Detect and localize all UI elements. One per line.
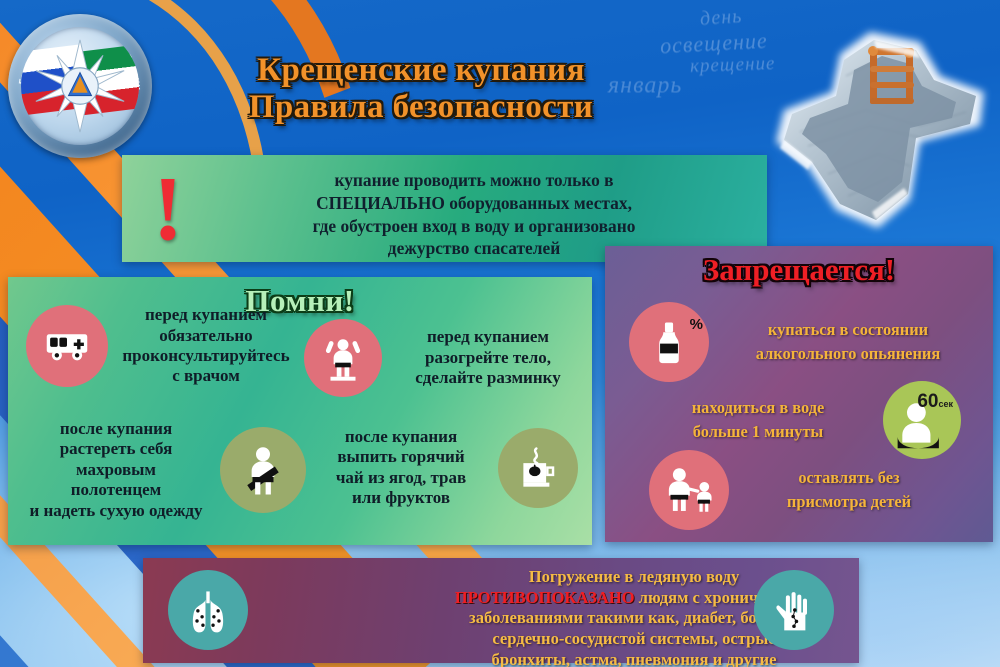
forbidden-panel: Запрещается! % купаться в состоянии алко… [605,246,993,542]
line: полотенцем [14,480,218,500]
alcohol-bottle-icon: % [629,302,709,382]
title-line-2: Правила безопасности [186,89,656,126]
line: чай из ягод, трав [308,468,494,488]
line: алкогольного опьянения [719,342,977,366]
lungs-icon [168,570,248,650]
line: присмотра детей [743,490,955,514]
emercom-emblem: Главное управление МЧС России по РТ [8,14,152,158]
title-line-1: Крещенские купания [186,52,656,89]
remember-panel: Помни! перед купанием обязательно прокон… [8,277,592,545]
line: после купания [308,427,494,447]
line: махровым [14,460,218,480]
timer-unit: сек [938,399,953,409]
forbidden-heading: Запрещается! [605,252,993,288]
hot-tea-cup-icon [498,428,578,508]
timer-number: 60 [917,391,938,412]
bottom-banner-panel: Погружение в ледяную воду ПРОТИВОПОКАЗАН… [143,558,859,663]
line: или фруктов [308,488,494,508]
remember-item-2-text: перед купанием разогрейте тело, сделайте… [390,327,586,388]
line: сделайте разминку [390,368,586,388]
person-stretching-icon [304,319,382,397]
line: оставлять без [743,466,955,490]
forbidden-item-3: оставлять без присмотра детей [649,450,991,530]
remember-item-4: после купания выпить горячий чай из ягод… [308,427,588,509]
exclamation-mark-icon: ! [150,165,186,253]
top-banner-line-1: купание проводить можно только в [198,169,750,192]
line: купаться в состоянии [719,318,977,342]
hand-pulse-icon [754,570,834,650]
remember-item-4-text: после купания выпить горячий чай из ягод… [308,427,494,509]
person-towel-rub-icon [220,427,306,513]
emblem-inner-disc [21,27,139,145]
ambulance-icon [26,305,108,387]
bottom-line-5: бронхиты, астма, пневмония и другие [399,650,869,667]
percent-badge: % [690,316,703,333]
forbidden-item-2-text: находиться в воде больше 1 минуты [639,396,877,444]
remember-item-1-text: перед купанием обязательно проконсультир… [118,305,294,387]
watermark-text-2: освещение [659,27,768,59]
remember-item-2: перед купанием разогрейте тело, сделайте… [304,319,586,397]
line: растереть себя [14,439,218,459]
forbidden-item-2: находиться в воде больше 1 минуты 60сек [639,381,991,459]
top-banner-line-2: СПЕЦИАЛЬНО оборудованных местах, [198,192,750,215]
line: и надеть сухую одежду [0,501,241,521]
line: проконсультируйтесь [118,346,294,366]
remember-item-3: после купания растереть себя махровым по… [14,419,314,521]
forbidden-item-1: % купаться в состоянии алкогольного опья… [629,302,987,382]
ice-hole-cross-photo [770,14,995,259]
line: перед купанием [390,327,586,347]
line: выпить горячий [308,447,494,467]
top-banner-line-3: где обустроен вход в воду и организовано [198,215,750,238]
line: после купания [14,419,218,439]
forbidden-item-1-text: купаться в состоянии алкогольного опьяне… [719,318,977,366]
adult-and-child-icon [649,450,729,530]
remember-item-3-text: после купания растереть себя махровым по… [14,419,218,521]
poster-root: день освещение крещение январь [0,0,1000,667]
watermark-text-1: день [699,5,743,31]
line: перед купанием [118,305,294,325]
timer-badge: 60сек [917,391,953,413]
emercom-star-icon [32,38,128,134]
watermark-text-3: крещение [690,53,776,78]
remember-item-1: перед купанием обязательно проконсультир… [26,305,296,387]
timer-person-in-water-icon: 60сек [883,381,961,459]
line: больше 1 минуты [639,420,877,444]
line: находиться в воде [639,396,877,420]
line: разогрейте тело, [390,348,586,368]
page-title: Крещенские купания Правила безопасности [186,52,656,126]
line: обязательно [118,326,294,346]
forbidden-item-3-text: оставлять без присмотра детей [743,466,955,514]
contraindicated-highlight: ПРОТИВОПОКАЗАНО [455,588,635,607]
line: с врачом [118,366,294,386]
